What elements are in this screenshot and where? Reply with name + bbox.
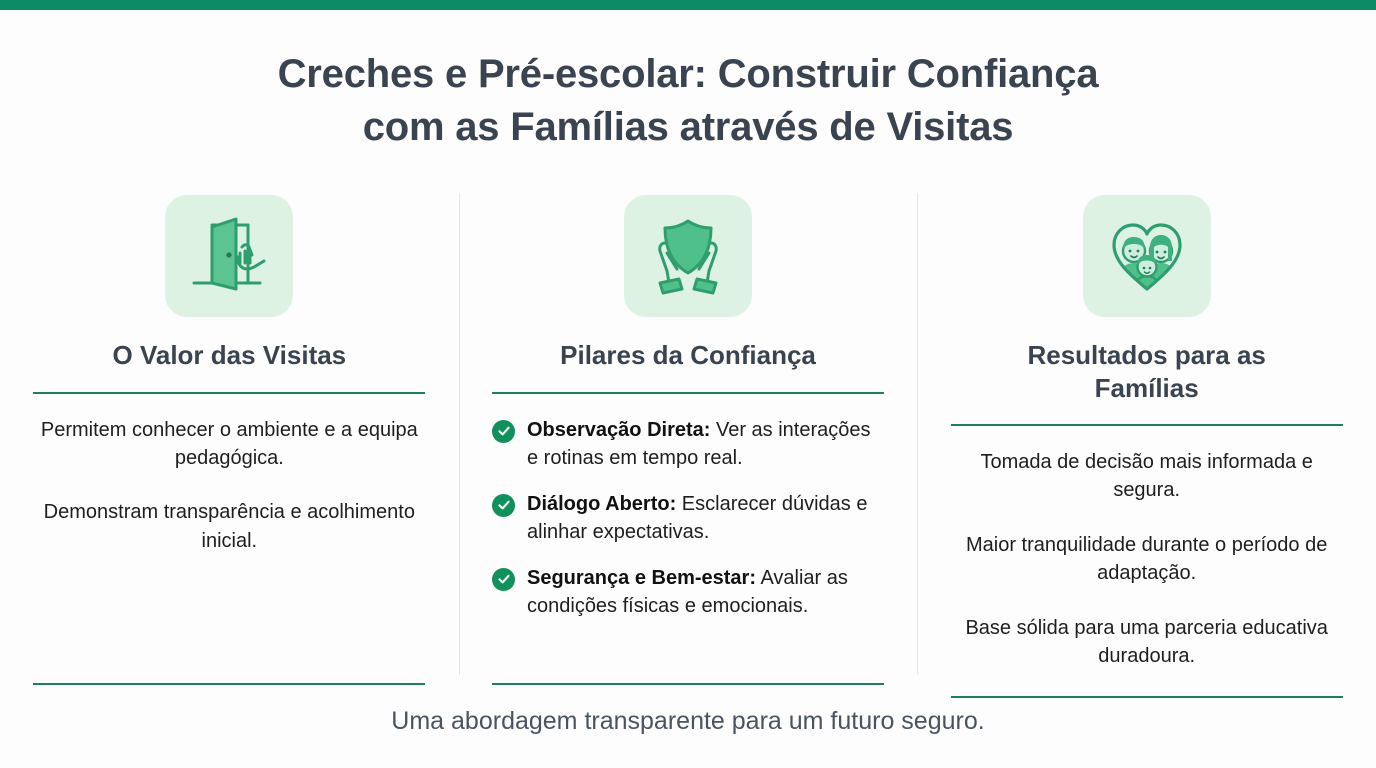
column-body-1: Permitem conhecer o ambiente e a equipa … xyxy=(33,394,425,686)
column-heading-1: O Valor das Visitas xyxy=(113,339,347,372)
page-title-line-1: Creches e Pré-escolar: Construir Confian… xyxy=(0,48,1376,101)
column-3-paragraph-3: Base sólida para uma parceria educativa … xyxy=(951,614,1343,671)
list-item: Diálogo Aberto: Esclarecer dúvidas e ali… xyxy=(492,490,884,546)
open-door-welcome-icon xyxy=(186,213,272,299)
bullet-text-3: Segurança e Bem-estar: Avaliar as condiç… xyxy=(527,564,884,620)
top-accent-bar xyxy=(0,0,1376,10)
bullet-text-1: Observação Direta: Ver as interações e r… xyxy=(527,416,884,472)
bullet-term-2: Diálogo Aberto: xyxy=(527,493,676,515)
icon-tile-2 xyxy=(624,195,752,317)
column-rule-bottom-2 xyxy=(492,683,884,685)
list-item: Observação Direta: Ver as interações e r… xyxy=(492,416,884,472)
page-title-line-2: com as Famílias através de Visitas xyxy=(0,101,1376,154)
column-heading-2: Pilares da Confiança xyxy=(560,339,816,372)
column-3-paragraph-1: Tomada de decisão mais informada e segur… xyxy=(951,448,1343,505)
list-item: Segurança e Bem-estar: Avaliar as condiç… xyxy=(492,564,884,620)
bullet-term-3: Segurança e Bem-estar: xyxy=(527,567,756,589)
page-title: Creches e Pré-escolar: Construir Confian… xyxy=(0,48,1376,154)
column-heading-3: Resultados para as Famílias xyxy=(982,339,1312,404)
column-valor-das-visitas: O Valor das Visitas Permitem conhecer o … xyxy=(0,185,459,685)
columns-container: O Valor das Visitas Permitem conhecer o … xyxy=(0,185,1376,685)
pillars-list: Observação Direta: Ver as interações e r… xyxy=(492,416,884,620)
infographic-page: Creches e Pré-escolar: Construir Confian… xyxy=(0,10,1376,768)
column-resultados-para-as-familias: Resultados para as Famílias Tomada de de… xyxy=(917,185,1376,685)
icon-tile-1 xyxy=(165,195,293,317)
icon-tile-3 xyxy=(1083,195,1211,317)
shield-in-hands-icon xyxy=(645,213,731,299)
column-rule-bottom-1 xyxy=(33,683,425,685)
column-1-paragraph-1: Permitem conhecer o ambiente e a equipa … xyxy=(33,416,425,473)
column-body-2: Observação Direta: Ver as interações e r… xyxy=(492,394,884,686)
column-body-3: Tomada de decisão mais informada e segur… xyxy=(951,426,1343,698)
column-pilares-da-confianca: Pilares da Confiança Observação Direta: … xyxy=(459,185,918,685)
footer-tagline: Uma abordagem transparente para um futur… xyxy=(0,707,1376,736)
check-circle-icon xyxy=(492,568,515,591)
bullet-text-2: Diálogo Aberto: Esclarecer dúvidas e ali… xyxy=(527,490,884,546)
bullet-term-1: Observação Direta: xyxy=(527,419,710,441)
column-3-paragraph-2: Maior tranquilidade durante o período de… xyxy=(951,531,1343,588)
column-1-paragraph-2: Demonstram transparência e acolhimento i… xyxy=(33,498,425,555)
family-in-heart-icon xyxy=(1104,213,1190,299)
check-circle-icon xyxy=(492,494,515,517)
column-rule-bottom-3 xyxy=(951,696,1343,698)
check-circle-icon xyxy=(492,420,515,443)
